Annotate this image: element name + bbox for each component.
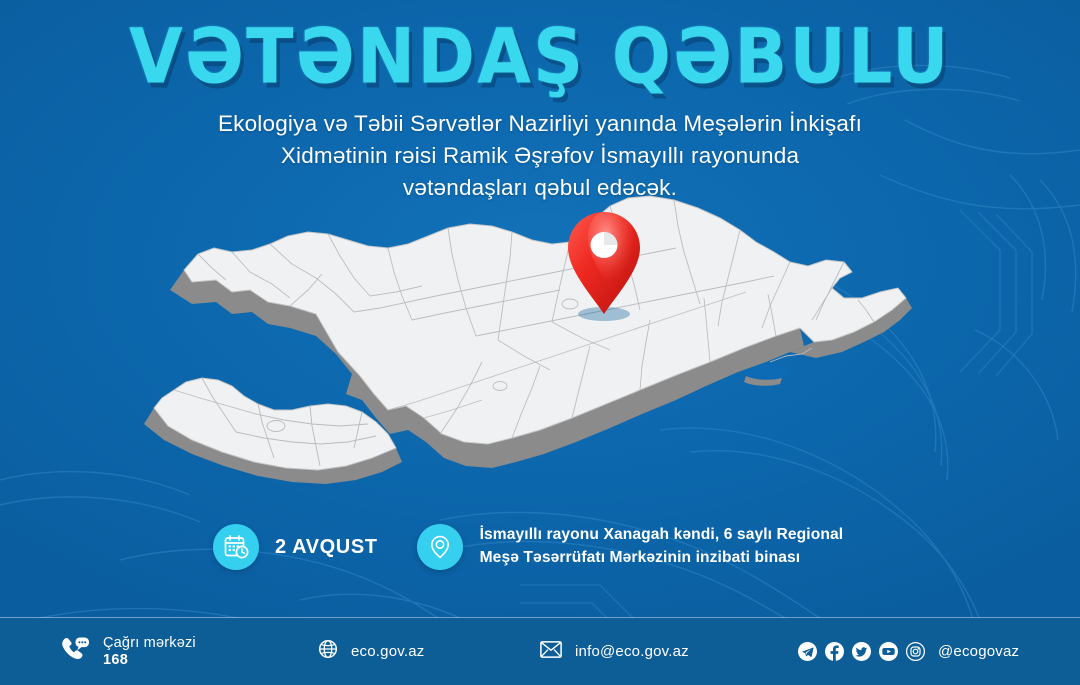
- envelope-icon: [540, 641, 562, 663]
- globe-icon: [318, 639, 338, 664]
- page-title: VƏTƏNDAŞ QƏBULU: [129, 19, 951, 95]
- youtube-icon[interactable]: [879, 642, 898, 661]
- event-info-row: 2 AVQUST İsmayıllı rayonu Xanagah kəndi,…: [213, 524, 843, 570]
- facebook-icon[interactable]: [825, 642, 844, 661]
- call-center-number: 168: [103, 652, 196, 668]
- phone-chat-icon: [60, 636, 90, 667]
- twitter-icon[interactable]: [852, 642, 871, 661]
- subtitle-line-1: Ekologiya və Təbii Sərvətlər Nazirliyi y…: [75, 108, 1005, 140]
- map-pin-icon: [417, 524, 463, 570]
- address-line-1: İsmayıllı rayonu Xanagah kəndi, 6 saylı …: [480, 526, 844, 543]
- azerbaijan-map: [140, 186, 960, 516]
- email-address: info@eco.gov.az: [575, 643, 689, 660]
- telegram-icon[interactable]: [798, 642, 817, 661]
- call-center-label: Çağrı mərkəzi: [103, 635, 196, 651]
- footer-email[interactable]: info@eco.gov.az: [540, 641, 689, 663]
- footer-call-center[interactable]: Çağrı mərkəzi 168: [60, 635, 196, 667]
- instagram-icon[interactable]: [906, 642, 925, 661]
- footer-bar: Çağrı mərkəzi 168 eco.gov.az: [0, 618, 1080, 685]
- calendar-clock-icon: [213, 524, 259, 570]
- poster-canvas: VƏTƏNDAŞ QƏBULU Ekologiya və Təbii Sərvə…: [0, 0, 1080, 685]
- address-line-2: Meşə Təsərrüfatı Mərkəzinin inzibati bin…: [480, 547, 844, 570]
- social-handle: @ecogovaz: [938, 643, 1019, 660]
- footer-social: @ecogovaz: [798, 642, 1019, 661]
- subtitle-line-2: Xidmətinin rəisi Ramik Əşrəfov İsmayıllı…: [75, 140, 1005, 172]
- footer-website[interactable]: eco.gov.az: [318, 639, 424, 664]
- event-date: 2 AVQUST: [275, 536, 378, 559]
- website-url: eco.gov.az: [351, 643, 424, 660]
- event-address: İsmayıllı rayonu Xanagah kəndi, 6 saylı …: [480, 524, 844, 569]
- title-block: VƏTƏNDAŞ QƏBULU: [0, 26, 1080, 88]
